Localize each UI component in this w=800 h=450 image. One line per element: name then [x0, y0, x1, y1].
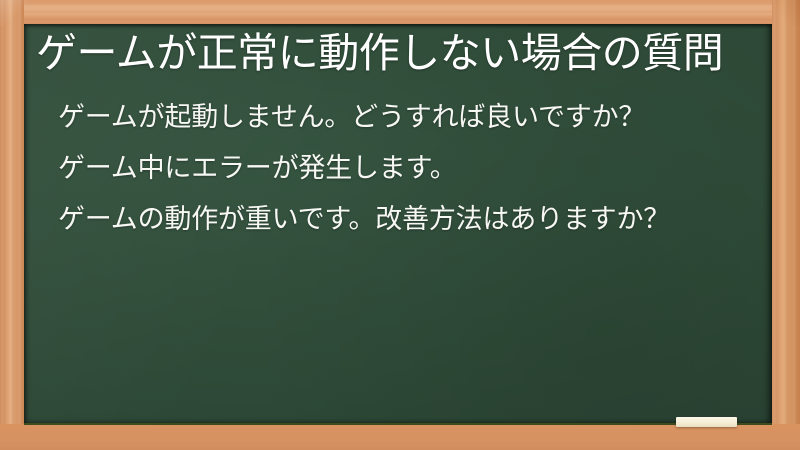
frame-corner-top-left [0, 0, 26, 26]
question-list: ゲームが起動しません。どうすれば良いですか？ ゲーム中にエラーが発生します。 ゲ… [36, 92, 742, 245]
frame-bottom-ledge [0, 424, 800, 450]
list-item: ゲーム中にエラーが発生します。 [58, 143, 742, 194]
chalk-stick-icon [676, 417, 737, 427]
frame-top-rail [0, 0, 800, 24]
board-content: ゲームが正常に動作しない場合の質問 ゲームが起動しません。どうすれば良いですか？… [24, 24, 772, 425]
frame-corner-top-right [770, 0, 800, 26]
blackboard-slide: ゲームが正常に動作しない場合の質問 ゲームが起動しません。どうすれば良いですか？… [0, 0, 800, 450]
list-item: ゲームが起動しません。どうすれば良いですか？ [58, 92, 742, 143]
frame-right-rail [772, 0, 800, 450]
frame-left-rail [0, 0, 24, 450]
list-item: ゲームの動作が重いです。改善方法はありますか？ [58, 194, 742, 245]
page-title: ゲームが正常に動作しない場合の質問 [36, 28, 742, 78]
